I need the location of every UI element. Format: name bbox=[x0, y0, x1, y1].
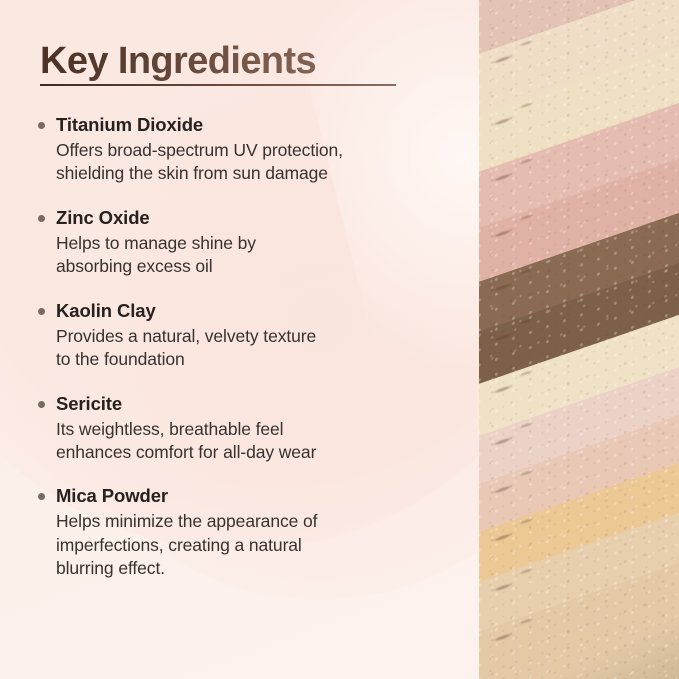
bullet-dot-icon bbox=[38, 401, 45, 408]
page-title: Key Ingredients bbox=[40, 41, 410, 82]
ingredient-name: Mica Powder bbox=[56, 484, 455, 509]
title-underline bbox=[40, 84, 396, 86]
list-item: Sericite Its weightless, breathable feel… bbox=[35, 392, 455, 465]
powder-swatch-photo bbox=[479, 0, 679, 679]
page-title-group: Key Ingredients bbox=[40, 41, 410, 86]
ingredient-name: Zinc Oxide bbox=[56, 206, 455, 231]
bullet-dot-icon bbox=[38, 493, 45, 500]
list-item: Kaolin Clay Provides a natural, velvety … bbox=[35, 299, 455, 372]
bullet-dot-icon bbox=[38, 122, 45, 129]
ingredient-list: Titanium Dioxide Offers broad-spectrum U… bbox=[35, 113, 455, 581]
list-item: Zinc Oxide Helps to manage shine by abso… bbox=[35, 206, 455, 279]
powder-band-fade bbox=[479, 629, 487, 679]
ingredient-name: Sericite bbox=[56, 392, 455, 417]
ingredient-name: Kaolin Clay bbox=[56, 299, 455, 324]
ingredient-description: Its weightless, breathable feel enhances… bbox=[56, 418, 455, 465]
ingredient-description: Offers broad-spectrum UV protection, shi… bbox=[56, 139, 455, 186]
bullet-dot-icon bbox=[38, 308, 45, 315]
text-column: Key Ingredients Titanium Dioxide Offers … bbox=[0, 0, 470, 679]
list-item: Titanium Dioxide Offers broad-spectrum U… bbox=[35, 113, 455, 186]
ingredient-description: Provides a natural, velvety texture to t… bbox=[56, 325, 455, 372]
bullet-dot-icon bbox=[38, 215, 45, 222]
list-item: Mica Powder Helps minimize the appearanc… bbox=[35, 484, 455, 580]
ingredient-description: Helps minimize the appearance of imperfe… bbox=[56, 510, 455, 580]
powder-bands bbox=[479, 0, 679, 679]
ingredient-description: Helps to manage shine by absorbing exces… bbox=[56, 232, 455, 279]
ingredient-name: Titanium Dioxide bbox=[56, 113, 455, 138]
poster-canvas: Key Ingredients Titanium Dioxide Offers … bbox=[0, 0, 679, 679]
